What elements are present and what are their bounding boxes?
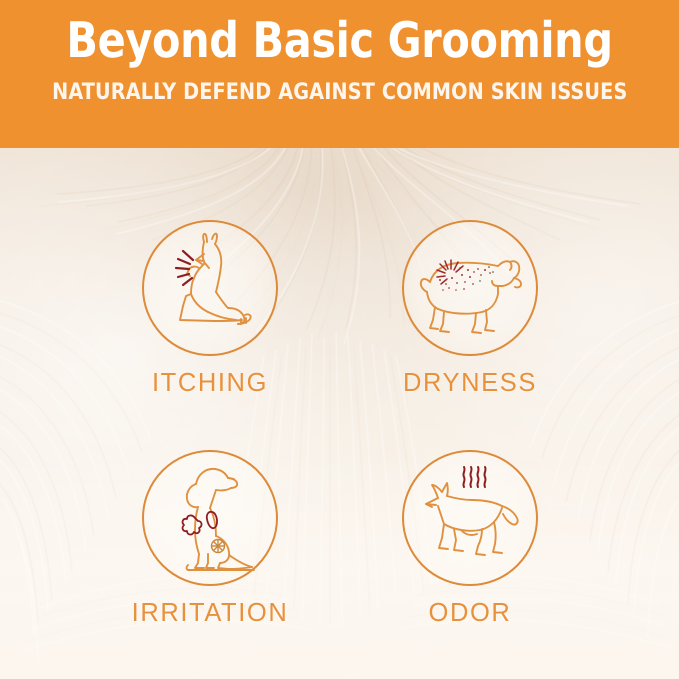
skin-issue-item-itching: ITCHING — [100, 220, 320, 398]
skin-issue-grid: ITCHING — [0, 148, 679, 679]
dog-odor-icon — [402, 450, 538, 586]
icon-circle-dryness — [402, 220, 538, 356]
page-subtitle: NATURALLY DEFEND AGAINST COMMON SKIN ISS… — [52, 79, 627, 105]
header-band: Beyond Basic Grooming NATURALLY DEFEND A… — [0, 0, 679, 148]
skin-issue-label-dryness: DRYNESS — [360, 369, 580, 398]
dog-flaky-skin-icon — [402, 220, 538, 356]
page-title: Beyond Basic Grooming — [66, 16, 612, 67]
icon-circle-itching — [142, 220, 278, 356]
skin-issue-label-irritation: IRRITATION — [100, 599, 320, 628]
grooming-benefits-poster: Beyond Basic Grooming NATURALLY DEFEND A… — [0, 0, 679, 679]
skin-issue-item-dryness: DRYNESS — [360, 220, 580, 398]
skin-issue-label-odor: ODOR — [360, 599, 580, 628]
icon-circle-odor — [402, 450, 538, 586]
icon-circle-irritation — [142, 450, 278, 586]
skin-issue-item-irritation: IRRITATION — [100, 450, 320, 628]
skin-issue-item-odor: ODOR — [360, 450, 580, 628]
skin-issue-label-itching: ITCHING — [100, 369, 320, 398]
dog-irritated-patch-icon — [142, 450, 278, 586]
dog-scratching-icon — [142, 220, 278, 356]
